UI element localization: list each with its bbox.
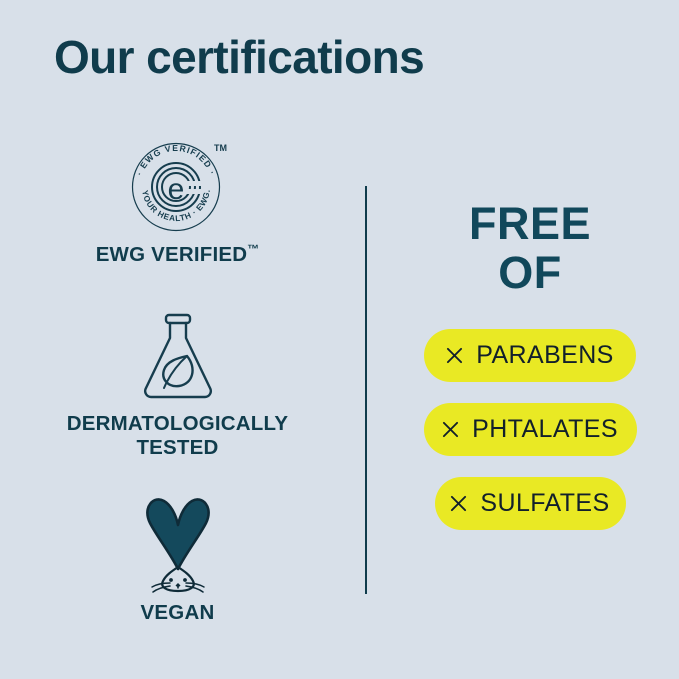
certification-item-dermatologically-tested: DERMATOLOGICALLY TESTED [0,308,355,460]
svg-text:· EWG VERIFIED ·: · EWG VERIFIED · [134,143,218,177]
bunny-heart-ears-icon [0,495,355,591]
trademark-symbol: ™ [247,242,259,256]
certification-label-vegan: VEGAN [0,601,355,625]
vertical-divider [365,186,367,594]
free-of-pill-sulfates[interactable]: SULFATES [435,477,626,530]
free-of-heading-line1: FREE [390,200,670,249]
certification-item-ewg: · EWG VERIFIED · FOR YOUR HEALTH · EWG.O… [0,138,355,267]
free-of-heading: FREE OF [390,200,670,297]
free-of-pill-phtalates[interactable]: PHTALATES [424,403,637,456]
x-mark-icon [442,421,459,438]
certifications-panel: Our certifications · EWG VERIFIED · [0,0,679,679]
certification-label-ewg-text: EWG VERIFIED [96,243,248,266]
certification-label-line1: DERMATOLOGICALLY [0,412,355,436]
svg-text:TM: TM [214,143,227,153]
free-of-pill-label: SULFATES [480,489,609,518]
certification-item-vegan: VEGAN [0,495,355,625]
certification-list: · EWG VERIFIED · FOR YOUR HEALTH · EWG.O… [0,130,355,660]
free-of-pill-label: PARABENS [476,341,614,370]
free-of-section: FREE OF PARABENS PHTALATES SULFATE [390,200,670,530]
x-mark-icon [446,347,463,364]
free-of-pill-parabens[interactable]: PARABENS [424,329,636,382]
flask-with-leaf-icon [0,308,355,404]
ewg-verified-seal-icon: · EWG VERIFIED · FOR YOUR HEALTH · EWG.O… [0,138,355,234]
free-of-pill-list: PARABENS PHTALATES SULFATES [390,329,670,530]
certification-label-dermatologically-tested: DERMATOLOGICALLY TESTED [0,412,355,460]
page-title: Our certifications [54,32,424,83]
certification-label-ewg: EWG VERIFIED™ [0,242,355,267]
free-of-heading-line2: OF [390,249,670,298]
x-mark-icon [450,495,467,512]
free-of-pill-label: PHTALATES [472,415,618,444]
certification-label-line2: TESTED [0,436,355,460]
svg-text:e: e [167,173,184,206]
